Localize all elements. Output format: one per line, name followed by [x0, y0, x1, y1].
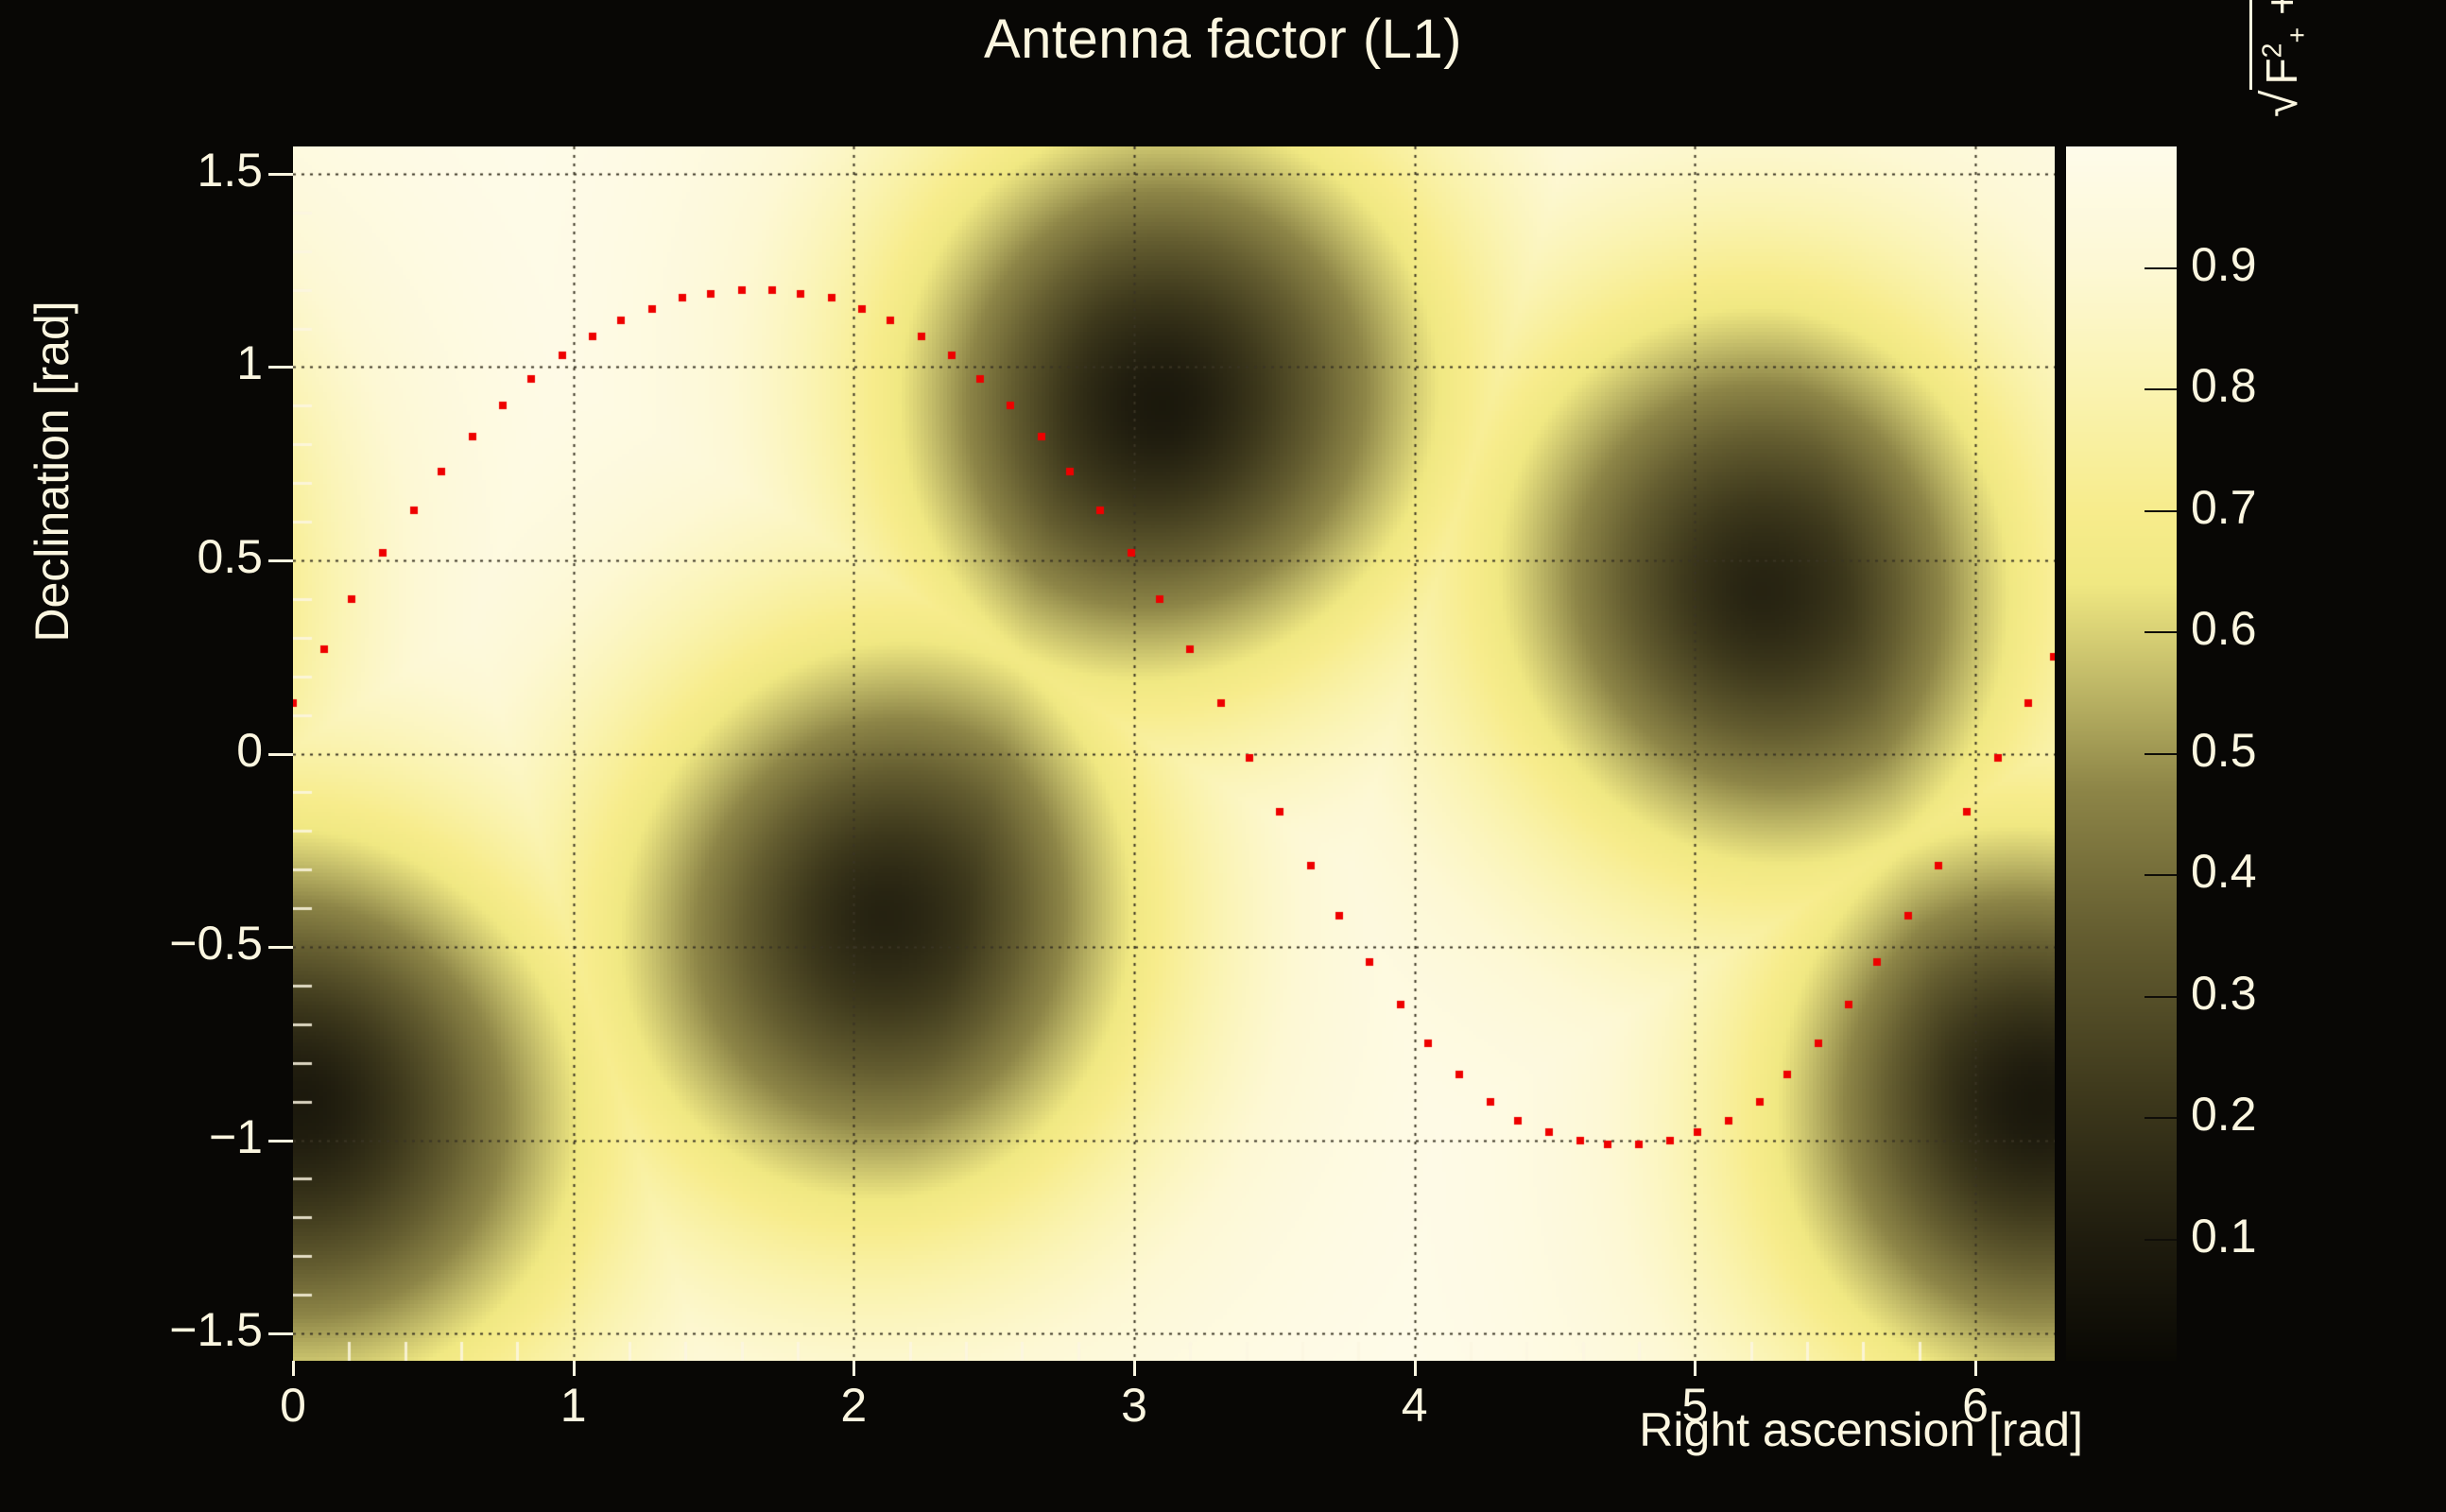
operator: +	[2257, 0, 2306, 15]
sqrt-radicand: F2+ + F2x	[2249, 0, 2314, 90]
colorbar-tick-label-3: 0.4	[2191, 844, 2257, 899]
x-axis-title: Right ascension [rad]	[1176, 1402, 2083, 1457]
term1-sup: 2	[2258, 43, 2288, 58]
colorbar-tick-mark-7	[2145, 388, 2177, 390]
colorbar-tick-mark-8	[2145, 267, 2177, 269]
colorbar-tick-label-0: 0.1	[2191, 1209, 2257, 1263]
colorbar-tick-mark-2	[2145, 996, 2177, 998]
x-tick-mark-2	[853, 1361, 855, 1376]
x-tick-mark-5	[1694, 1361, 1697, 1376]
heatmap-plot-area[interactable]	[293, 146, 2055, 1361]
y-tick-mark-5	[268, 366, 293, 369]
x-tick-mark-4	[1414, 1361, 1417, 1376]
colorbar-tick-mark-1	[2145, 1117, 2177, 1119]
x-tick-label-2: 2	[768, 1378, 939, 1433]
y-tick-mark-0	[268, 1332, 293, 1335]
y-tick-mark-1	[268, 1140, 293, 1143]
colorbar-tick-label-4: 0.5	[2191, 723, 2257, 778]
y-tick-mark-2	[268, 946, 293, 949]
y-tick-mark-6	[268, 173, 293, 176]
y-tick-mark-4	[268, 559, 293, 562]
colorbar-title: √F2+ + F2x	[2249, 0, 2314, 123]
colorbar-tick-label-8: 0.9	[2191, 237, 2257, 292]
x-tick-mark-0	[292, 1361, 295, 1376]
x-tick-mark-1	[573, 1361, 576, 1376]
x-tick-mark-3	[1133, 1361, 1136, 1376]
colorbar-tick-label-6: 0.7	[2191, 480, 2257, 535]
colorbar-tick-label-2: 0.3	[2191, 966, 2257, 1021]
colorbar-tick-label-5: 0.6	[2191, 601, 2257, 656]
x-tick-mark-6	[1974, 1361, 1977, 1376]
colorbar-tick-mark-3	[2145, 874, 2177, 876]
grid-and-curve-overlay	[293, 146, 2055, 1361]
x-tick-label-1: 1	[489, 1378, 659, 1433]
colorbar-tick-label-7: 0.8	[2191, 358, 2257, 413]
colorbar-tick-mark-0	[2145, 1239, 2177, 1241]
y-tick-mark-3	[268, 753, 293, 756]
colorbar-tick-mark-6	[2145, 510, 2177, 512]
x-tick-label-0: 0	[208, 1378, 378, 1433]
colorbar-tick-mark-5	[2145, 631, 2177, 633]
y-axis-title: Declination [rad]	[25, 169, 79, 774]
y-tick-label-2: −0.5	[9, 916, 263, 971]
term1-sub: +	[2282, 27, 2313, 43]
colorbar-tick-label-1: 0.2	[2191, 1087, 2257, 1142]
y-tick-label-0: −1.5	[9, 1302, 263, 1357]
y-tick-label-1: −1	[9, 1109, 263, 1164]
sqrt-expression: √F2+ + F2x	[2249, 0, 2314, 123]
colorbar-tick-mark-4	[2145, 753, 2177, 755]
term1-base: F	[2257, 58, 2306, 84]
radical-icon: √	[2256, 90, 2305, 117]
page-title: Antenna factor (L1)	[0, 8, 2446, 71]
